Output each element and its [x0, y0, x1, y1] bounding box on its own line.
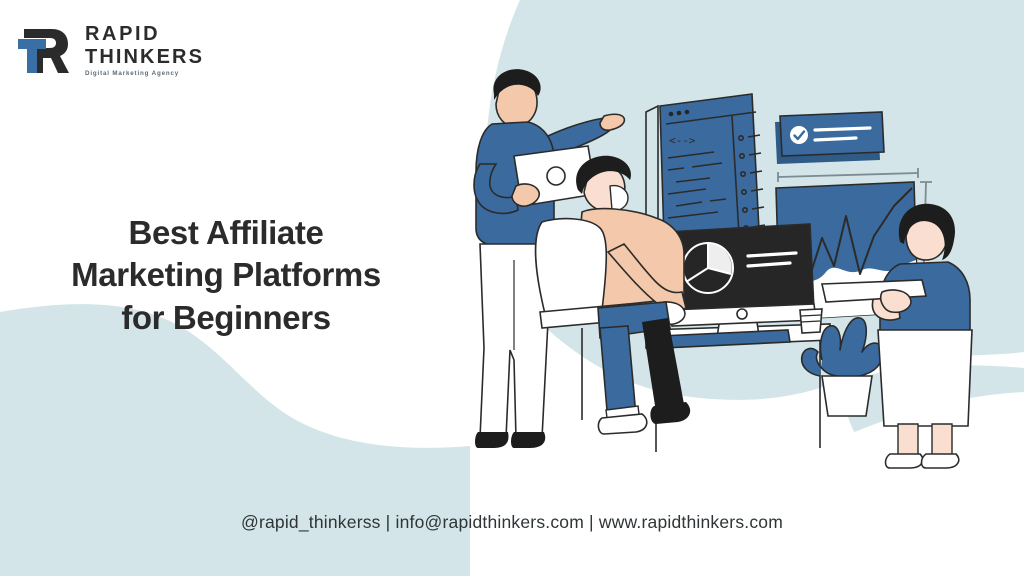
title-line-1: Best Affiliate — [0, 212, 452, 254]
title-line-3: for Beginners — [0, 297, 452, 339]
notification-card — [775, 112, 884, 164]
cactus-pot — [822, 376, 872, 416]
check-circle-icon — [790, 126, 808, 144]
chart-measure-top — [778, 173, 918, 177]
presenter-hand-holding — [512, 184, 539, 206]
footer-handle: @rapid_thinkerss — [241, 512, 381, 532]
assistant-shoe-left — [886, 454, 923, 468]
notification-line-1 — [815, 128, 870, 130]
monitor-screen — [666, 224, 814, 318]
desk-cup — [800, 309, 822, 333]
logo-tagline: Digital Marketing Agency — [85, 71, 204, 77]
teal-shape-left-wave — [0, 304, 470, 576]
title-line-2: Marketing Platforms — [0, 254, 452, 296]
notification-line-2 — [815, 138, 856, 140]
logo-wordmark: RAPID THINKERS Digital Marketing Agency — [85, 24, 204, 77]
presenter-hand-pointing — [600, 114, 624, 130]
page-title: Best Affiliate Marketing Platforms for B… — [0, 212, 452, 339]
worker-shoe-left — [598, 414, 646, 434]
footer-sep-1: | — [381, 512, 396, 532]
logo-line-2: THINKERS — [85, 47, 204, 67]
footer-sep-2: | — [584, 512, 599, 532]
footer-email: info@rapidthinkers.com — [396, 512, 585, 532]
poster-canvas: RAPID THINKERS Digital Marketing Agency … — [0, 0, 1024, 576]
assistant-hand — [881, 290, 911, 312]
footer-contact: @rapid_thinkerss | info@rapidthinkers.co… — [0, 512, 1024, 533]
code-tag-open: <--> — [669, 134, 696, 147]
brand-logo[interactable]: RAPID THINKERS Digital Marketing Agency — [18, 24, 204, 77]
chair-back — [536, 219, 607, 318]
presenter-shoe-left — [475, 432, 508, 448]
assistant-skirt — [878, 330, 972, 426]
hero-illustration: .ln-d{stroke:#2b2b2b;stroke-width:1.6;fi… — [470, 60, 1024, 480]
logo-monogram-icon — [18, 25, 76, 77]
assistant-shoe-right — [922, 454, 959, 468]
assistant-leg-left — [898, 424, 918, 458]
logo-line-1: RAPID — [85, 24, 204, 44]
assistant-leg-right — [932, 424, 952, 458]
presenter-shoe-right — [511, 432, 545, 448]
footer-website: www.rapidthinkers.com — [599, 512, 783, 532]
